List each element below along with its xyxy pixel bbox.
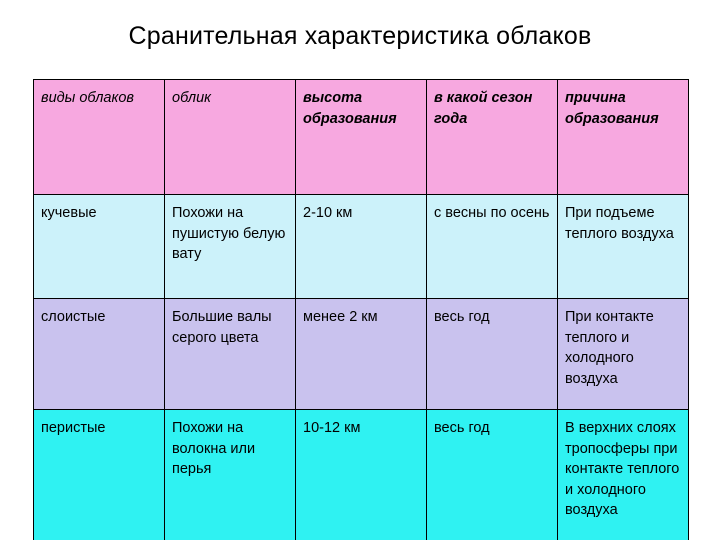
table-header-cell-0: виды облаков <box>34 80 165 195</box>
table-cell-2-3: весь год <box>427 410 558 540</box>
table-cell-1-2: менее 2 км <box>296 299 427 410</box>
table-row: слоистые Большие валы серого цвета менее… <box>34 299 689 410</box>
table-cell-0-4: При подъеме теплого воздуха <box>558 195 689 299</box>
slide-page: Сранительная характеристика облаков виды… <box>0 0 720 540</box>
table-header-cell-2: высота образования <box>296 80 427 195</box>
table-cell-1-0: слоистые <box>34 299 165 410</box>
table-cell-0-1: Похожи на пушистую белую вату <box>165 195 296 299</box>
table-header-cell-4: причина образования <box>558 80 689 195</box>
table-cell-1-4: При контакте теплого и холодного воздуха <box>558 299 689 410</box>
table-cell-2-2: 10-12 км <box>296 410 427 540</box>
table-cell-1-3: весь год <box>427 299 558 410</box>
page-title: Сранительная характеристика облаков <box>0 22 720 51</box>
table-cell-0-3: с весны по осень <box>427 195 558 299</box>
table-cell-2-1: Похожи на волокна или перья <box>165 410 296 540</box>
table-header-row: виды облаков облик высота образования в … <box>34 80 689 195</box>
table-header-cell-3: в какой сезон года <box>427 80 558 195</box>
table-row: перистые Похожи на волокна или перья 10-… <box>34 410 689 540</box>
table-cell-2-4: В верхних слоях тропосферы при контакте … <box>558 410 689 540</box>
table-row: кучевые Похожи на пушистую белую вату 2-… <box>34 195 689 299</box>
table-cell-0-0: кучевые <box>34 195 165 299</box>
table-cell-2-0: перистые <box>34 410 165 540</box>
cloud-comparison-table: виды облаков облик высота образования в … <box>33 79 689 540</box>
table-cell-0-2: 2-10 км <box>296 195 427 299</box>
table-cell-1-1: Большие валы серого цвета <box>165 299 296 410</box>
table-header-cell-1: облик <box>165 80 296 195</box>
